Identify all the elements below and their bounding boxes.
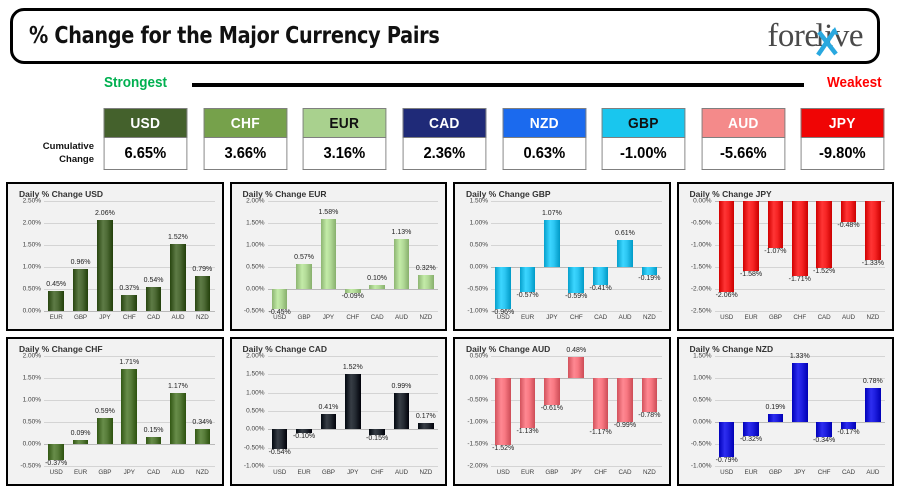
bar-value-label: -1.17% <box>590 429 612 436</box>
y-axis-tick-label: 1.00% <box>693 375 711 382</box>
y-axis-tick-label: -2.00% <box>467 463 488 470</box>
bar-value-label: -0.09% <box>342 293 364 300</box>
y-axis-tick-label: 2.00% <box>23 220 41 227</box>
x-axis-tick-label: NZD <box>414 312 438 324</box>
bar-group: -0.09% <box>341 201 365 311</box>
bar-value-label: 0.79% <box>192 266 212 273</box>
strongest-label: Strongest <box>104 74 167 91</box>
bar[interactable] <box>170 244 186 311</box>
bar-value-label: -0.61% <box>541 405 563 412</box>
x-axis-tick-label: EUR <box>44 312 68 324</box>
x-axis-tick-label: CAD <box>613 467 637 479</box>
x-axis-tick-label: CHF <box>341 312 365 324</box>
bar[interactable] <box>719 422 735 457</box>
bar[interactable] <box>48 291 64 311</box>
currency-chart-grid: Daily % Change USD0.00%0.50%1.00%1.50%2.… <box>6 182 894 486</box>
y-axis-tick-label: 2.50% <box>23 198 41 205</box>
x-axis-tick-label: CHF <box>564 312 588 324</box>
y-axis-tick-label: -2.00% <box>691 286 712 293</box>
y-axis-tick-label: 0.00% <box>470 264 488 271</box>
bar-group: -0.48% <box>836 201 860 311</box>
x-axis-tick-label: USD <box>44 467 68 479</box>
bar-group: 0.19% <box>763 356 787 466</box>
y-axis-tick-label: 0.00% <box>23 308 41 315</box>
bar-group: 0.61% <box>613 201 637 311</box>
x-axis-tick-label: EUR <box>739 312 763 324</box>
cumulative-column-nzd: NZD0.63% <box>499 108 590 172</box>
bar-group: -0.54% <box>268 356 292 466</box>
x-axis-tick-label: AUD <box>861 467 885 479</box>
x-axis-tick-label: JPY <box>540 312 564 324</box>
bar-group: 1.52% <box>341 356 365 466</box>
bar-value-label: 1.33% <box>790 353 810 360</box>
x-axis-tick-label: JPY <box>341 467 365 479</box>
y-axis-tick-label: 1.50% <box>246 371 264 378</box>
bar-value-label: -1.52% <box>813 268 835 275</box>
y-axis-tick-label: -1.50% <box>467 441 488 448</box>
bar[interactable] <box>272 429 288 449</box>
bar[interactable] <box>568 267 584 293</box>
y-axis-tick-label: 0.00% <box>23 441 41 448</box>
bar-value-label: 1.17% <box>168 383 188 390</box>
cumulative-change-value: 2.36% <box>403 138 486 170</box>
y-axis-tick-label: 0.50% <box>246 264 264 271</box>
bar-value-label: 0.59% <box>95 408 115 415</box>
y-axis-tick-label: -0.50% <box>691 220 712 227</box>
x-axis-tick-label: NZD <box>414 467 438 479</box>
bar[interactable] <box>272 289 288 309</box>
bar-group: -0.17% <box>836 356 860 466</box>
bar-group: 1.52% <box>166 201 190 311</box>
bar-group: -0.19% <box>637 201 661 311</box>
x-axis-tick-label: JPY <box>316 312 340 324</box>
bar[interactable] <box>73 269 89 311</box>
y-axis-tick-label: 1.50% <box>246 220 264 227</box>
strength-scale: Strongest Weakest <box>0 74 900 98</box>
cumulative-change-value: -5.66% <box>701 138 784 170</box>
x-axis-tick-label: CHF <box>588 467 612 479</box>
y-axis-tick-label: 1.00% <box>246 389 264 396</box>
x-axis-tick-label: GBP <box>292 312 316 324</box>
bar-value-label: -0.57% <box>516 292 538 299</box>
bar[interactable] <box>816 422 832 437</box>
y-axis-tick-label: 0.00% <box>693 198 711 205</box>
plot-area: -0.45%0.57%1.58%-0.09%0.10%1.13%0.32% <box>268 201 439 311</box>
bar[interactable] <box>743 422 759 436</box>
x-axis-tick-label: JPY <box>93 312 117 324</box>
chart-plot: -1.00%-0.50%0.00%0.50%1.00%1.50%-0.79%-0… <box>684 356 888 479</box>
bar-value-label: 1.13% <box>392 229 412 236</box>
chart-panel-cad: Daily % Change CAD-1.00%-0.50%0.00%0.50%… <box>230 337 448 486</box>
bar[interactable] <box>195 276 211 311</box>
x-axis-tick-label: EUR <box>68 467 92 479</box>
bar-group: -0.37% <box>44 356 68 466</box>
y-axis: -0.50%0.00%0.50%1.00%1.50%2.00% <box>237 201 267 311</box>
bar-group: 0.15% <box>141 356 165 466</box>
x-axis: USDEURGBPJPYCHFCADNZD <box>491 467 662 479</box>
bar-group: -0.79% <box>715 356 739 466</box>
bar-group: -0.78% <box>637 356 661 466</box>
bar[interactable] <box>146 287 162 311</box>
x-axis-tick-label: USD <box>268 467 292 479</box>
bar-value-label: 0.17% <box>416 413 436 420</box>
bar[interactable] <box>97 418 113 444</box>
x-axis-tick-label: JPY <box>788 467 812 479</box>
x-axis-tick-label: EUR <box>515 312 539 324</box>
bar[interactable] <box>719 201 735 292</box>
bar[interactable] <box>345 374 361 430</box>
weakest-label: Weakest <box>827 74 882 91</box>
bar[interactable] <box>617 240 633 267</box>
bar[interactable] <box>495 267 511 309</box>
chart-plot: -0.50%0.00%0.50%1.00%1.50%2.00%-0.37%0.0… <box>13 356 217 479</box>
bar-group: 2.06% <box>93 201 117 311</box>
y-axis-tick-label: -0.50% <box>467 397 488 404</box>
bar[interactable] <box>593 267 609 285</box>
cumulative-change-label: Cumulative Change <box>12 140 94 166</box>
plot-area: -0.96%-0.57%1.07%-0.59%-0.41%0.61%-0.19% <box>491 201 662 311</box>
currency-code-badge: EUR <box>303 108 386 138</box>
y-axis-tick-label: 1.50% <box>23 375 41 382</box>
currency-code-badge: GBP <box>602 108 685 138</box>
cumulative-change-value: 0.63% <box>502 138 585 170</box>
bar-group: 1.17% <box>166 356 190 466</box>
x-axis-tick-label: GBP <box>763 467 787 479</box>
chart-panel-eur: Daily % Change EUR-0.50%0.00%0.50%1.00%1… <box>230 182 448 331</box>
chart-panel-aud: Daily % Change AUD-2.00%-1.50%-1.00%-0.5… <box>453 337 671 486</box>
cumulative-column-aud: AUD-5.66% <box>698 108 789 172</box>
bar-series: -0.45%0.57%1.58%-0.09%0.10%1.13%0.32% <box>268 201 439 311</box>
plot-area: -0.54%-0.10%0.41%1.52%-0.15%0.99%0.17% <box>268 356 439 466</box>
y-axis: -1.00%-0.50%0.00%0.50%1.00%1.50% <box>460 201 490 311</box>
currency-code-badge: NZD <box>502 108 585 138</box>
bar-group: 0.09% <box>68 356 92 466</box>
bar-group: -1.17% <box>588 356 612 466</box>
chart-title: Daily % Change CHF <box>19 344 217 354</box>
chart-panel-usd: Daily % Change USD0.00%0.50%1.00%1.50%2.… <box>6 182 224 331</box>
y-axis-tick-label: 2.00% <box>246 198 264 205</box>
bar-group: 0.99% <box>389 356 413 466</box>
y-axis: -2.00%-1.50%-1.00%-0.50%0.00%0.50% <box>460 356 490 466</box>
x-axis-tick-label: USD <box>715 312 739 324</box>
currency-code-badge: CHF <box>203 108 286 138</box>
cumulative-change-label-line2: Change <box>12 153 94 166</box>
chart-title: Daily % Change CAD <box>243 344 441 354</box>
bar-group: -1.52% <box>812 201 836 311</box>
bar-group: 1.13% <box>389 201 413 311</box>
x-axis-tick-label: JPY <box>564 467 588 479</box>
bar-value-label: 0.37% <box>119 285 139 292</box>
bar-group: -1.52% <box>491 356 515 466</box>
bar[interactable] <box>544 378 560 405</box>
bar-group: -0.96% <box>491 201 515 311</box>
bar[interactable] <box>321 414 337 429</box>
bar-value-label: 1.07% <box>542 210 562 217</box>
bar-group: -0.61% <box>540 356 564 466</box>
y-axis: -0.50%0.00%0.50%1.00%1.50%2.00% <box>13 356 43 466</box>
y-axis: -1.00%-0.50%0.00%0.50%1.00%1.50% <box>684 356 714 466</box>
y-axis-tick-label: -0.50% <box>691 441 712 448</box>
bar-value-label: 0.61% <box>615 230 635 237</box>
cumulative-change-strip: USD6.65%CHF3.66%EUR3.16%CAD2.36%NZD0.63%… <box>100 108 888 172</box>
bar[interactable] <box>121 369 137 444</box>
chart-plot: -0.50%0.00%0.50%1.00%1.50%2.00%-0.45%0.5… <box>237 201 441 324</box>
bar-value-label: -0.48% <box>837 222 859 229</box>
bar-value-label: -2.06% <box>716 292 738 299</box>
bar[interactable] <box>520 267 536 292</box>
y-axis-tick-label: 0.50% <box>470 353 488 360</box>
y-axis-tick-label: -1.00% <box>691 242 712 249</box>
bar-value-label: 0.34% <box>192 419 212 426</box>
bar-value-label: 0.48% <box>566 347 586 354</box>
logo-text-prefix: fore <box>767 20 818 53</box>
bar-value-label: 0.41% <box>318 404 338 411</box>
currency-code-badge: USD <box>104 108 187 138</box>
y-axis-tick-label: -0.50% <box>20 463 41 470</box>
x-axis-tick-label: AUD <box>389 467 413 479</box>
y-axis-tick-label: 2.00% <box>246 353 264 360</box>
bar[interactable] <box>97 220 113 311</box>
bar-value-label: 0.54% <box>144 277 164 284</box>
cumulative-change-value: 3.16% <box>303 138 386 170</box>
bar-series: -0.37%0.09%0.59%1.71%0.15%1.17%0.34% <box>44 356 215 466</box>
bar[interactable] <box>296 264 312 289</box>
bar[interactable] <box>593 378 609 429</box>
bar-group: -0.99% <box>613 356 637 466</box>
bar-series: -1.52%-1.13%-0.61%0.48%-1.17%-0.99%-0.78… <box>491 356 662 466</box>
bar-group: 1.58% <box>316 201 340 311</box>
x-axis-tick-label: USD <box>268 312 292 324</box>
y-axis-tick-label: -1.00% <box>467 308 488 315</box>
bar-group: -0.41% <box>588 201 612 311</box>
y-axis-tick-label: 0.50% <box>693 397 711 404</box>
bar-group: -1.58% <box>739 201 763 311</box>
x-axis-tick-label: CHF <box>117 312 141 324</box>
y-axis-tick-label: -1.00% <box>244 463 265 470</box>
currency-code-badge: JPY <box>801 108 884 138</box>
plot-area: -2.06%-1.58%-1.07%-1.71%-1.52%-0.48%-1.3… <box>715 201 886 311</box>
x-axis-tick-label: CAD <box>812 312 836 324</box>
bar-value-label: -0.59% <box>565 293 587 300</box>
y-axis-tick-label: 0.50% <box>23 419 41 426</box>
bar[interactable] <box>195 429 211 444</box>
cumulative-change-value: -1.00% <box>602 138 685 170</box>
chart-plot: -1.00%-0.50%0.00%0.50%1.00%1.50%2.00%-0.… <box>237 356 441 479</box>
currency-code-badge: AUD <box>701 108 784 138</box>
bar[interactable] <box>792 201 808 276</box>
bar-value-label: -0.15% <box>366 435 388 442</box>
bar-value-label: -0.17% <box>837 429 859 436</box>
bar-series: -0.54%-0.10%0.41%1.52%-0.15%0.99%0.17% <box>268 356 439 466</box>
chart-plot: -2.00%-1.50%-1.00%-0.50%0.00%0.50%-1.52%… <box>460 356 664 479</box>
bar-group: 1.33% <box>788 356 812 466</box>
y-axis-tick-label: 1.00% <box>470 220 488 227</box>
bar-group: -0.10% <box>292 356 316 466</box>
bar-value-label: 0.15% <box>144 427 164 434</box>
y-axis-tick-label: -0.50% <box>244 444 265 451</box>
x-axis-tick-label: JPY <box>117 467 141 479</box>
y-axis-tick-label: -1.50% <box>691 264 712 271</box>
x-axis-tick-label: CAD <box>365 312 389 324</box>
bar[interactable] <box>617 378 633 422</box>
bar-group: 0.32% <box>414 201 438 311</box>
bar-series: 0.45%0.96%2.06%0.37%0.54%1.52%0.79% <box>44 201 215 311</box>
chart-title: Daily % Change JPY <box>690 189 888 199</box>
y-axis-tick-label: 1.50% <box>693 353 711 360</box>
y-axis-tick-label: -1.00% <box>691 463 712 470</box>
bar[interactable] <box>642 378 658 412</box>
bar[interactable] <box>642 267 658 275</box>
y-axis-tick-label: 1.00% <box>23 397 41 404</box>
bar[interactable] <box>418 423 434 429</box>
bar[interactable] <box>743 201 759 271</box>
x-axis: USDEURGBPCHFCADAUDNZD <box>715 312 886 324</box>
x-axis-tick-label: GBP <box>93 467 117 479</box>
bar-value-label: -0.32% <box>740 436 762 443</box>
y-axis: -1.00%-0.50%0.00%0.50%1.00%1.50%2.00% <box>237 356 267 466</box>
x-axis: USDEURJPYCHFCADAUDNZD <box>491 312 662 324</box>
bar-value-label: -0.54% <box>269 449 291 456</box>
bar-value-label: -0.41% <box>590 285 612 292</box>
bar-value-label: 0.19% <box>765 404 785 411</box>
bar-value-label: 0.32% <box>416 265 436 272</box>
bar[interactable] <box>792 363 808 422</box>
bar-group: 0.57% <box>292 201 316 311</box>
cumulative-change-value: 6.65% <box>104 138 187 170</box>
bar-group: -1.71% <box>788 201 812 311</box>
x-axis-tick-label: CAD <box>141 312 165 324</box>
bar-value-label: -1.52% <box>492 445 514 452</box>
x-axis-tick-label: GBP <box>540 467 564 479</box>
x-axis-tick-label: USD <box>491 312 515 324</box>
bar-group: -1.33% <box>861 201 885 311</box>
chart-title: Daily % Change EUR <box>243 189 441 199</box>
bar[interactable] <box>369 285 385 289</box>
chart-panel-chf: Daily % Change CHF-0.50%0.00%0.50%1.00%1… <box>6 337 224 486</box>
bar-group: 0.37% <box>117 201 141 311</box>
cumulative-column-gbp: GBP-1.00% <box>598 108 689 172</box>
y-axis-tick-label: 0.50% <box>23 286 41 293</box>
bar-group: -0.15% <box>365 356 389 466</box>
chart-panel-nzd: Daily % Change NZD-1.00%-0.50%0.00%0.50%… <box>677 337 895 486</box>
bar-group: -1.13% <box>515 356 539 466</box>
bar[interactable] <box>768 414 784 422</box>
bar-group: 0.78% <box>861 356 885 466</box>
x-axis: USDGBPJPYCHFCADAUDNZD <box>268 312 439 324</box>
y-axis-tick-label: 1.50% <box>470 198 488 205</box>
plot-area: 0.45%0.96%2.06%0.37%0.54%1.52%0.79% <box>44 201 215 311</box>
bar-series: -0.96%-0.57%1.07%-0.59%-0.41%0.61%-0.19% <box>491 201 662 311</box>
bar[interactable] <box>48 444 64 460</box>
bar-group: 0.34% <box>190 356 214 466</box>
bar[interactable] <box>544 220 560 267</box>
bar[interactable] <box>170 393 186 444</box>
bar-group: -0.32% <box>739 356 763 466</box>
bar-value-label: -0.34% <box>813 437 835 444</box>
y-axis-tick-label: 0.00% <box>470 375 488 382</box>
y-axis-tick-label: -2.50% <box>691 308 712 315</box>
bar-value-label: 0.96% <box>71 259 91 266</box>
y-axis-tick-label: 1.00% <box>23 264 41 271</box>
bar-value-label: -0.99% <box>614 422 636 429</box>
bar[interactable] <box>495 378 511 445</box>
bar-group: -0.34% <box>812 356 836 466</box>
x-axis-tick-label: NZD <box>861 312 885 324</box>
chart-panel-gbp: Daily % Change GBP-1.00%-0.50%0.00%0.50%… <box>453 182 671 331</box>
y-axis-tick-label: 1.50% <box>23 242 41 249</box>
bar[interactable] <box>865 388 881 422</box>
bar[interactable] <box>568 357 584 378</box>
x-axis-tick-label: USD <box>715 467 739 479</box>
x-axis-tick-label: CAD <box>141 467 165 479</box>
plot-area: -1.52%-1.13%-0.61%0.48%-1.17%-0.99%-0.78… <box>491 356 662 466</box>
bar-value-label: 0.78% <box>863 378 883 385</box>
x-axis-tick-label: NZD <box>637 312 661 324</box>
bar[interactable] <box>865 201 881 260</box>
bar-value-label: 2.06% <box>95 210 115 217</box>
y-axis-tick-label: 0.00% <box>693 419 711 426</box>
strength-scale-line <box>192 83 804 87</box>
x-axis-tick-label: AUD <box>389 312 413 324</box>
cumulative-change-value: -9.80% <box>801 138 884 170</box>
y-axis-tick-label: -0.50% <box>467 286 488 293</box>
bar[interactable] <box>146 437 162 444</box>
bar-value-label: 0.99% <box>392 383 412 390</box>
bar[interactable] <box>321 219 337 289</box>
bar[interactable] <box>520 378 536 428</box>
bar-group: -1.07% <box>763 201 787 311</box>
bar-group: -0.59% <box>564 201 588 311</box>
cumulative-change-value: 3.66% <box>203 138 286 170</box>
bar-value-label: -1.13% <box>516 428 538 435</box>
x-axis: EURGBPJPYCHFCADAUDNZD <box>44 312 215 324</box>
bar-group: 0.59% <box>93 356 117 466</box>
bar-group: 0.54% <box>141 201 165 311</box>
cumulative-column-usd: USD6.65% <box>100 108 191 172</box>
bar[interactable] <box>394 393 410 429</box>
bar-value-label: 1.52% <box>343 364 363 371</box>
forexlive-logo: forelive <box>767 20 863 53</box>
bar[interactable] <box>841 422 857 429</box>
bar[interactable] <box>121 295 137 311</box>
x-axis-tick-label: CAD <box>588 312 612 324</box>
bar[interactable] <box>841 201 857 222</box>
chart-title: Daily % Change GBP <box>466 189 664 199</box>
chart-panel-jpy: Daily % Change JPY-2.50%-2.00%-1.50%-1.0… <box>677 182 895 331</box>
x-axis-tick-label: CHF <box>788 312 812 324</box>
bar-group: 0.10% <box>365 201 389 311</box>
bar-value-label: 1.52% <box>168 234 188 241</box>
bar[interactable] <box>394 239 410 289</box>
x-axis: USDEURGBPJPYCHFCADAUD <box>715 467 886 479</box>
bar-value-label: -0.10% <box>293 433 315 440</box>
x-axis-tick-label: GBP <box>316 467 340 479</box>
bar-value-label: -0.19% <box>638 275 660 282</box>
page-title: % Change for the Major Currency Pairs <box>29 23 440 49</box>
y-axis-tick-label: 1.00% <box>246 242 264 249</box>
bar-series: -2.06%-1.58%-1.07%-1.71%-1.52%-0.48%-1.3… <box>715 201 886 311</box>
x-axis-tick-label: AUD <box>836 312 860 324</box>
bar[interactable] <box>418 275 434 289</box>
bar-group: 0.45% <box>44 201 68 311</box>
bar[interactable] <box>768 201 784 248</box>
bar-group: 0.96% <box>68 201 92 311</box>
y-axis-tick-label: 2.00% <box>23 353 41 360</box>
cumulative-column-jpy: JPY-9.80% <box>797 108 888 172</box>
bar[interactable] <box>816 201 832 268</box>
bar[interactable] <box>73 440 89 444</box>
bar-value-label: 1.71% <box>119 359 139 366</box>
